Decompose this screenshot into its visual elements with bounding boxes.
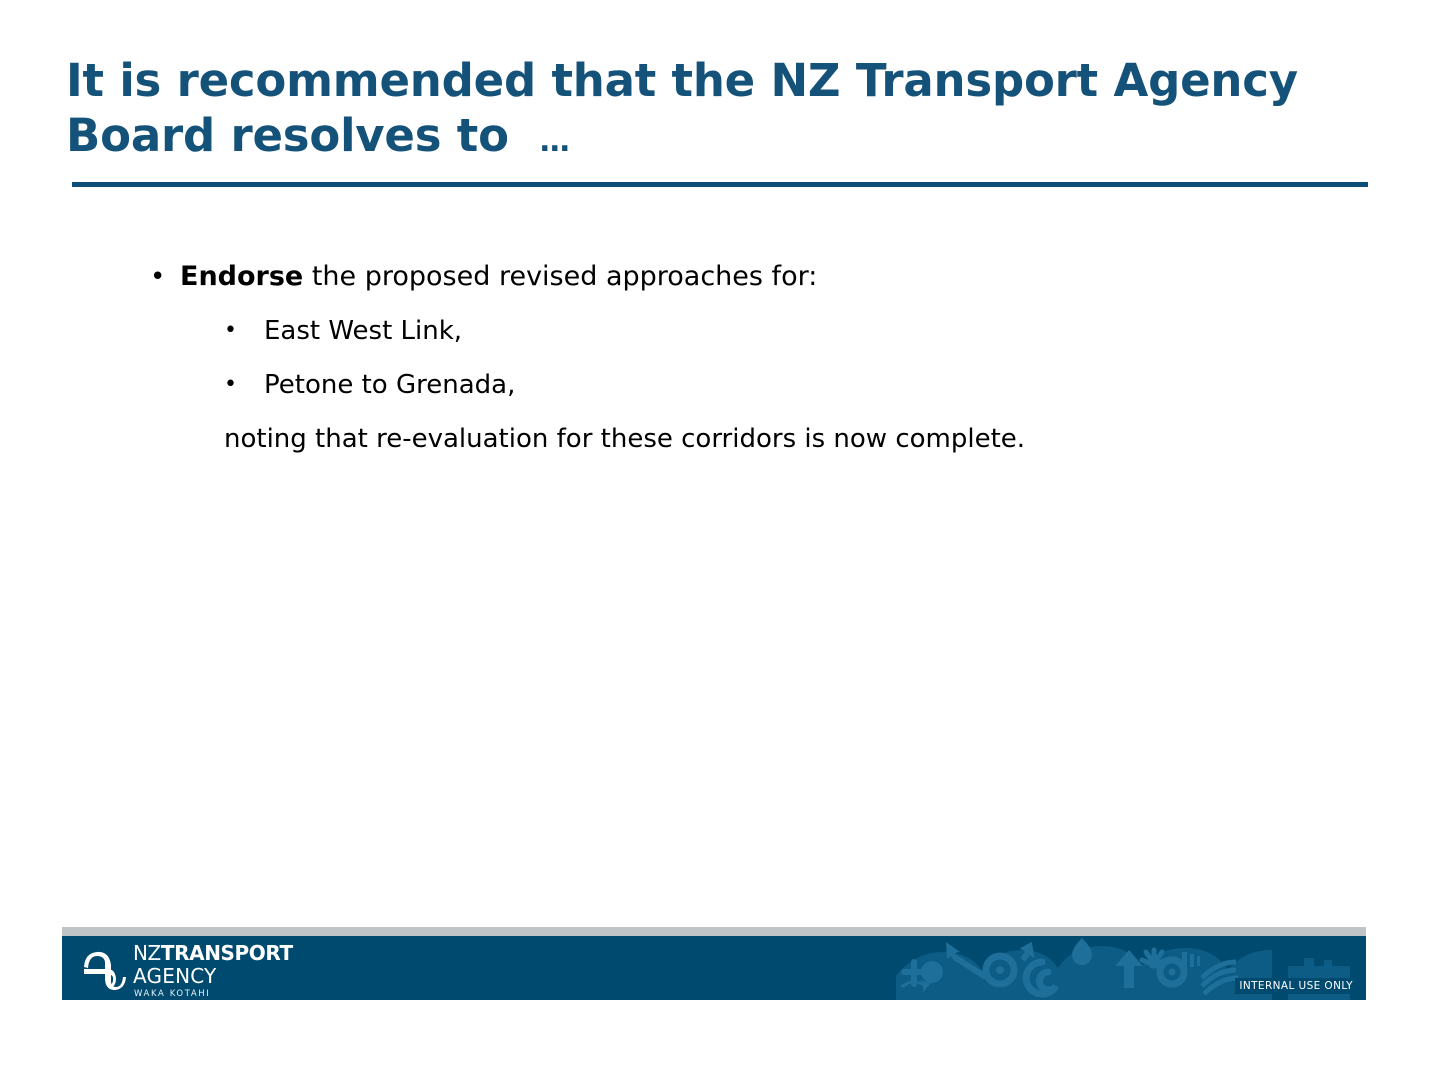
title-line-1: It is recommended that the NZ Transport … (66, 54, 1298, 107)
nzta-logo: NZTRANSPORT AGENCY WAKA KOTAHI (82, 943, 293, 999)
logo-maori-name: WAKA KOTAHI (134, 990, 293, 999)
page-title: It is recommended that the NZ Transport … (66, 54, 1366, 164)
list-item-label: Endorse the proposed revised approaches … (180, 258, 817, 296)
nzta-koru-logo-icon (82, 947, 128, 991)
nzta-logo-wordmark: NZTRANSPORT AGENCY WAKA KOTAHI (133, 943, 293, 999)
logo-word-agency: AGENCY (133, 966, 293, 986)
title-ellipsis: … (540, 124, 572, 159)
footer-divider-strip (62, 927, 1366, 936)
title-underline-rule (72, 182, 1368, 187)
classification-badge: INTERNAL USE ONLY (1235, 978, 1357, 994)
bullet-icon: • (224, 366, 264, 404)
list-item-rest: the proposed revised approaches for: (303, 261, 817, 292)
list-item-bold-lead: Endorse (180, 261, 303, 292)
list-item: • Petone to Grenada, (224, 366, 1300, 404)
list-item: • Endorse the proposed revised approache… (150, 258, 1300, 296)
title-line-2: Board resolves to (66, 109, 509, 162)
list-item: • East West Link, (224, 312, 1300, 350)
logo-prefix: NZ (133, 941, 161, 965)
bullet-icon: • (150, 258, 180, 296)
bullet-icon: • (224, 312, 264, 350)
footer-band: NZTRANSPORT AGENCY WAKA KOTAHI INTERNAL … (62, 936, 1366, 1000)
logo-word-transport: TRANSPORT (161, 941, 293, 965)
slide-canvas: It is recommended that the NZ Transport … (0, 0, 1440, 1080)
body-content: • Endorse the proposed revised approache… (150, 258, 1300, 458)
closing-note: noting that re-evaluation for these corr… (224, 420, 1300, 458)
list-item-label: Petone to Grenada, (264, 366, 515, 404)
list-item-label: East West Link, (264, 312, 462, 350)
